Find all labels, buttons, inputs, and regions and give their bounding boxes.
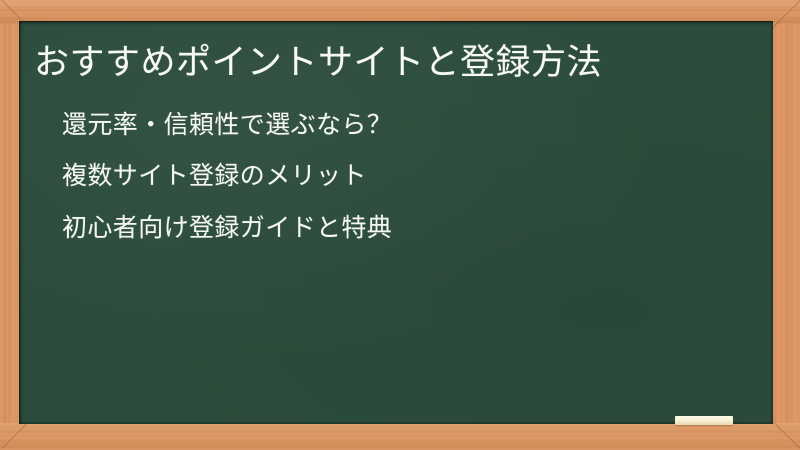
chalkboard-slide: おすすめポイントサイトと登録方法 還元率・信頼性で選ぶなら？ 複数サイト登録のメ… (0, 0, 800, 450)
chalk-stick (675, 416, 733, 425)
board-line-item: 複数サイト登録のメリット (62, 160, 392, 191)
board-line-item: 還元率・信頼性で選ぶなら？ (62, 109, 392, 140)
frame-bottom-ledge (0, 423, 800, 450)
board-title: おすすめポイントサイトと登録方法 (34, 43, 602, 83)
chalkboard-surface: おすすめポイントサイトと登録方法 還元率・信頼性で選ぶなら？ 複数サイト登録のメ… (19, 21, 773, 424)
board-line-list: 還元率・信頼性で選ぶなら？ 複数サイト登録のメリット 初心者向け登録ガイドと特典 (62, 109, 392, 243)
board-line-item: 初心者向け登録ガイドと特典 (62, 212, 392, 243)
chalkboard-content: おすすめポイントサイトと登録方法 還元率・信頼性で選ぶなら？ 複数サイト登録のメ… (19, 21, 773, 424)
